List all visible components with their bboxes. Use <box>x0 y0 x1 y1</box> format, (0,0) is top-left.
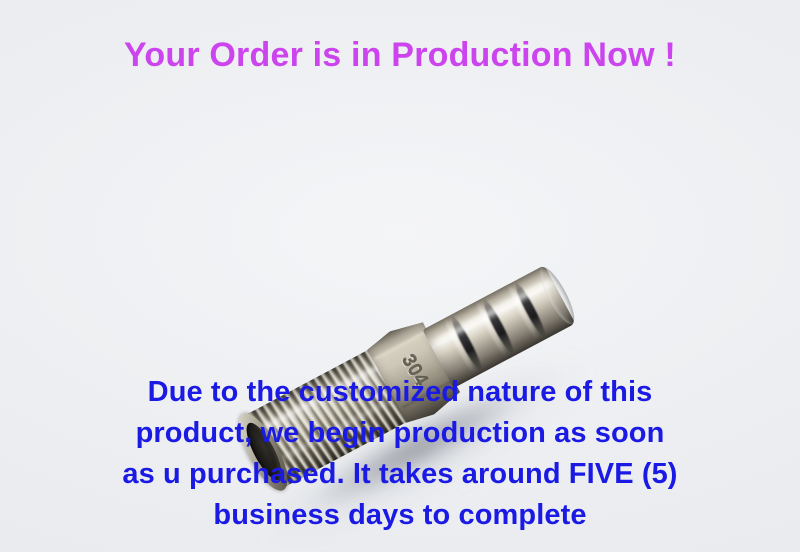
product-photo: 304 <box>0 120 800 380</box>
notice-line: as u purchased. It takes around FIVE (5) <box>0 454 800 495</box>
production-notice: Due to the customized nature of this pro… <box>0 372 800 536</box>
notice-line: Due to the customized nature of this <box>0 372 800 413</box>
page-title: Your Order is in Production Now ! <box>0 36 800 75</box>
notice-line: product, we begin production as soon <box>0 413 800 454</box>
notice-line: business days to complete <box>0 495 800 536</box>
announcement-graphic: Your Order is in Production Now ! 304 <box>0 0 800 552</box>
